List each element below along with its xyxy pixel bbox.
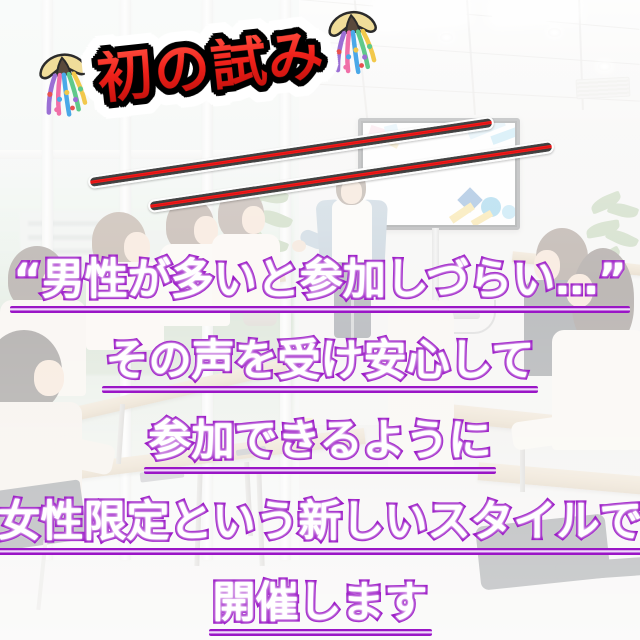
copy-line-2-underline bbox=[102, 386, 539, 393]
confetti-ball-icon bbox=[30, 46, 99, 122]
promo-poster: 初の試み “男性が多いと参加しづらい…” bbox=[0, 0, 640, 640]
copy-line-4-text: 女性限定という新しいスタイルで bbox=[0, 497, 640, 547]
copy-line-2: その声を受け安心して bbox=[100, 339, 541, 394]
slide-shape bbox=[502, 205, 515, 219]
main-copy: “男性が多いと参加しづらい…” その声を受け安心して 参加できるように 女性限定… bbox=[0, 258, 640, 636]
copy-line-1: “男性が多いと参加しづらい…” bbox=[8, 258, 633, 313]
copy-line-2-text: その声を受け安心して bbox=[106, 336, 535, 386]
downlight-icon bbox=[440, 33, 453, 42]
copy-line-1-text: “男性が多いと参加しづらい…” bbox=[14, 255, 627, 305]
downlight-icon bbox=[548, 28, 561, 37]
copy-line-5: 開催します bbox=[207, 581, 434, 636]
downlight-icon bbox=[598, 62, 611, 71]
copy-line-3-text: 参加できるように bbox=[148, 416, 491, 466]
outside-building-window bbox=[28, 221, 106, 226]
copy-line-4-underline bbox=[0, 548, 640, 555]
copy-line-3: 参加できるように bbox=[142, 419, 497, 474]
copy-line-4: 女性限定という新しいスタイルで bbox=[0, 500, 640, 555]
air-vent bbox=[576, 77, 631, 100]
copy-line-1-underline bbox=[10, 306, 631, 313]
copy-line-5-underline bbox=[209, 629, 432, 636]
copy-line-5-text: 開催します bbox=[213, 578, 428, 628]
copy-line-3-underline bbox=[144, 467, 495, 474]
